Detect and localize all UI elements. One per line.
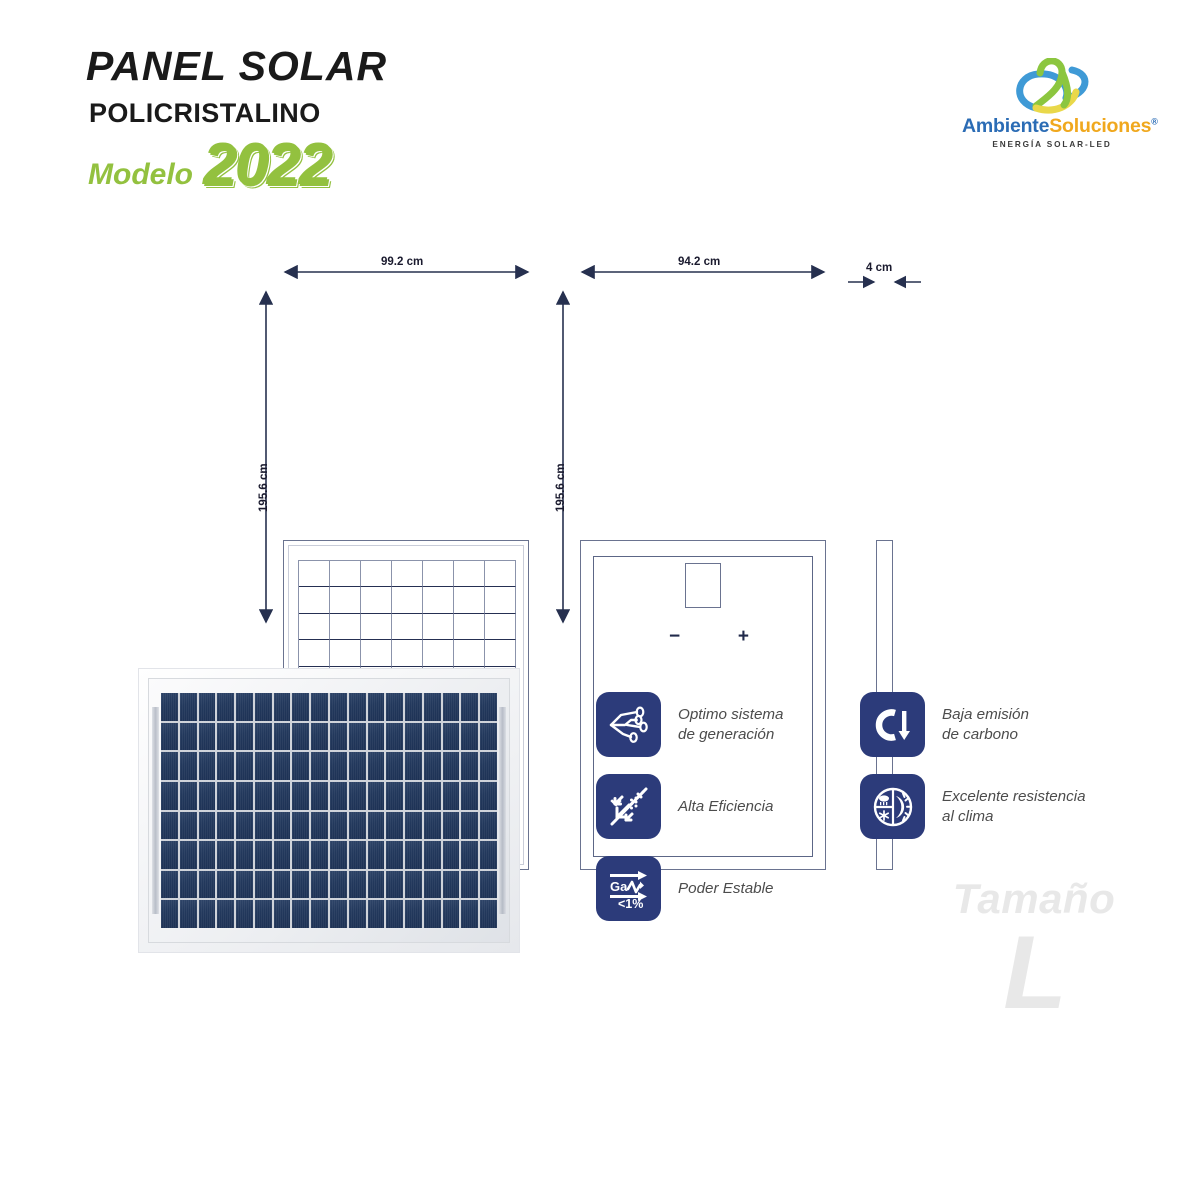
solar-cell bbox=[423, 587, 454, 613]
solar-cell bbox=[299, 561, 330, 587]
photo-solar-cell bbox=[274, 841, 291, 869]
photo-solar-cell bbox=[330, 693, 347, 721]
photo-solar-cell bbox=[386, 841, 403, 869]
solar-cell bbox=[454, 614, 485, 640]
photo-solar-cell bbox=[255, 693, 272, 721]
photo-solar-cell bbox=[461, 812, 478, 840]
feature-baja-emision: Baja emisión de carbono bbox=[860, 692, 1117, 757]
feature-poder-estable: Ga <1% Poder Estable bbox=[596, 856, 784, 921]
photo-solar-cell bbox=[180, 841, 197, 869]
solar-cell bbox=[361, 640, 392, 666]
photo-solar-cell bbox=[443, 782, 460, 810]
brand-name-primary: Ambiente bbox=[962, 115, 1049, 137]
photo-solar-cell bbox=[480, 693, 497, 721]
photo-solar-cell bbox=[255, 752, 272, 780]
photo-solar-cell bbox=[461, 841, 478, 869]
brand-name-secondary: Soluciones bbox=[1049, 115, 1151, 137]
photo-solar-cell bbox=[368, 723, 385, 751]
photo-solar-cell bbox=[199, 900, 216, 928]
photo-solar-cell bbox=[443, 841, 460, 869]
photo-solar-cell bbox=[480, 871, 497, 899]
photo-solar-cell bbox=[292, 841, 309, 869]
feature-resistencia-clima: Excelente resistencia al clima bbox=[860, 774, 1117, 839]
photo-solar-cell bbox=[161, 752, 178, 780]
photo-solar-cell bbox=[368, 752, 385, 780]
photo-solar-cell bbox=[292, 812, 309, 840]
photo-solar-cell bbox=[443, 693, 460, 721]
solar-cell bbox=[485, 614, 516, 640]
photo-solar-cell bbox=[330, 900, 347, 928]
photo-solar-cell bbox=[349, 693, 366, 721]
weather-resistance-icon bbox=[860, 774, 925, 839]
photo-solar-cell bbox=[217, 871, 234, 899]
photo-solar-cell bbox=[386, 812, 403, 840]
solar-cell bbox=[299, 587, 330, 613]
solar-cell bbox=[485, 587, 516, 613]
photo-solar-cell bbox=[461, 752, 478, 780]
photo-solar-cell bbox=[311, 723, 328, 751]
size-badge-label: Tamaño bbox=[924, 878, 1144, 920]
photo-solar-cell bbox=[405, 723, 422, 751]
page-title-block: PANEL SOLAR POLICRISTALINO Modelo 2022 bbox=[86, 46, 646, 190]
solar-cell bbox=[330, 561, 361, 587]
brand-tagline: ENERGÍA SOLAR-LED bbox=[962, 140, 1142, 149]
photo-solar-cell bbox=[161, 841, 178, 869]
front-height-label: 195.6 cm bbox=[258, 463, 270, 512]
photo-solar-cell bbox=[274, 812, 291, 840]
photo-solar-cell bbox=[368, 782, 385, 810]
photo-solar-cell bbox=[368, 841, 385, 869]
photo-solar-cell bbox=[461, 900, 478, 928]
photo-solar-cell bbox=[217, 723, 234, 751]
photo-solar-cell bbox=[311, 900, 328, 928]
model-row: Modelo 2022 bbox=[88, 139, 646, 190]
photo-solar-cell bbox=[274, 693, 291, 721]
panel-photo-frame bbox=[148, 678, 510, 943]
registered-mark: ® bbox=[1151, 117, 1157, 127]
photo-solar-cell bbox=[368, 871, 385, 899]
size-badge-value: L bbox=[924, 924, 1144, 1023]
model-year: 2022 bbox=[203, 139, 330, 189]
photo-solar-cell bbox=[405, 841, 422, 869]
photo-solar-cell bbox=[274, 871, 291, 899]
photo-solar-cell bbox=[255, 782, 272, 810]
photo-solar-cell bbox=[217, 841, 234, 869]
photo-solar-cell bbox=[217, 900, 234, 928]
photo-solar-cell bbox=[330, 812, 347, 840]
generation-network-icon bbox=[596, 692, 661, 757]
solar-cell bbox=[423, 561, 454, 587]
photo-solar-cell bbox=[386, 693, 403, 721]
photo-solar-cell bbox=[405, 782, 422, 810]
busbar-left bbox=[152, 707, 159, 914]
photo-solar-cell bbox=[199, 752, 216, 780]
back-height-label: 195.6 cm bbox=[555, 463, 567, 512]
photo-solar-cell bbox=[349, 841, 366, 869]
photo-solar-cell bbox=[161, 723, 178, 751]
photo-solar-cell bbox=[199, 782, 216, 810]
photo-solar-cell bbox=[461, 871, 478, 899]
photo-solar-cell bbox=[180, 871, 197, 899]
photo-solar-cell bbox=[311, 812, 328, 840]
feature-column-left: Optimo sistema de generación bbox=[596, 692, 784, 938]
page-title: PANEL SOLAR bbox=[86, 46, 646, 87]
solar-panel-photo bbox=[138, 668, 520, 953]
photo-solar-cell bbox=[180, 723, 197, 751]
solar-cell bbox=[454, 640, 485, 666]
solar-cell bbox=[392, 587, 423, 613]
photo-solar-cell bbox=[161, 812, 178, 840]
solar-cell bbox=[330, 614, 361, 640]
photo-solar-cell bbox=[405, 752, 422, 780]
photo-solar-cell bbox=[330, 841, 347, 869]
photo-solar-cell bbox=[236, 812, 253, 840]
photo-solar-cell bbox=[424, 752, 441, 780]
photo-solar-cell bbox=[217, 693, 234, 721]
solar-cell bbox=[423, 640, 454, 666]
photo-solar-cell bbox=[217, 752, 234, 780]
feature-label: Baja emisión de carbono bbox=[942, 705, 1029, 744]
photo-solar-cell bbox=[349, 752, 366, 780]
photo-solar-cell bbox=[236, 900, 253, 928]
photo-solar-cell bbox=[443, 871, 460, 899]
photo-solar-cell bbox=[255, 812, 272, 840]
photo-solar-cell bbox=[443, 812, 460, 840]
brand-logo: AmbienteSoluciones® ENERGÍA SOLAR-LED bbox=[962, 58, 1142, 149]
photo-solar-cell bbox=[236, 723, 253, 751]
solar-cell bbox=[392, 640, 423, 666]
photo-solar-cell bbox=[368, 693, 385, 721]
solar-cell bbox=[392, 561, 423, 587]
photo-solar-cell bbox=[386, 871, 403, 899]
photo-solar-cell bbox=[480, 841, 497, 869]
photo-solar-cell bbox=[349, 871, 366, 899]
photo-solar-cell bbox=[349, 812, 366, 840]
photo-solar-cell bbox=[386, 723, 403, 751]
photo-solar-cell bbox=[180, 812, 197, 840]
photo-solar-cell bbox=[386, 782, 403, 810]
photo-solar-cell bbox=[217, 812, 234, 840]
feature-alta-eficiencia: Alta Eficiencia bbox=[596, 774, 784, 839]
model-label: Modelo bbox=[88, 160, 193, 190]
photo-solar-cell bbox=[330, 871, 347, 899]
photo-solar-cell bbox=[292, 871, 309, 899]
photo-solar-cell bbox=[480, 752, 497, 780]
solar-cell bbox=[392, 614, 423, 640]
feature-optimo-sistema: Optimo sistema de generación bbox=[596, 692, 784, 757]
photo-solar-cell bbox=[480, 812, 497, 840]
photo-solar-cell bbox=[405, 871, 422, 899]
solar-cell bbox=[330, 587, 361, 613]
solar-cell bbox=[361, 587, 392, 613]
solar-cell bbox=[299, 640, 330, 666]
photo-solar-cell bbox=[292, 723, 309, 751]
photo-solar-cell bbox=[424, 723, 441, 751]
photo-solar-cell bbox=[236, 782, 253, 810]
photo-solar-cell bbox=[330, 782, 347, 810]
solar-cell bbox=[361, 561, 392, 587]
polarity-negative-icon: − bbox=[669, 627, 680, 646]
stable-power-ga-icon: Ga <1% bbox=[596, 856, 661, 921]
photo-solar-cell bbox=[349, 782, 366, 810]
side-thickness-label: 4 cm bbox=[866, 262, 892, 274]
photo-solar-cell bbox=[161, 871, 178, 899]
photo-solar-cell bbox=[180, 693, 197, 721]
photo-solar-cell bbox=[236, 752, 253, 780]
photo-solar-cell bbox=[311, 841, 328, 869]
photo-solar-cell bbox=[199, 812, 216, 840]
photo-solar-cell bbox=[368, 812, 385, 840]
solar-cell bbox=[423, 614, 454, 640]
photo-solar-cell bbox=[199, 841, 216, 869]
polarity-positive-icon: + bbox=[738, 627, 749, 646]
solar-cell bbox=[454, 587, 485, 613]
photo-solar-cell bbox=[405, 900, 422, 928]
photo-solar-cell bbox=[443, 723, 460, 751]
photo-solar-cell bbox=[292, 900, 309, 928]
svg-text:<1%: <1% bbox=[618, 897, 643, 911]
photo-solar-cell bbox=[349, 723, 366, 751]
photo-solar-cell bbox=[424, 782, 441, 810]
photo-solar-cell bbox=[236, 871, 253, 899]
photo-solar-cell bbox=[368, 900, 385, 928]
feature-label: Poder Estable bbox=[678, 879, 773, 898]
photo-solar-cell bbox=[292, 782, 309, 810]
photo-solar-cell bbox=[480, 782, 497, 810]
photo-solar-cell bbox=[461, 693, 478, 721]
photo-solar-cell bbox=[255, 723, 272, 751]
photo-solar-cell bbox=[311, 782, 328, 810]
photo-solar-cell bbox=[386, 900, 403, 928]
photo-solar-cell bbox=[180, 900, 197, 928]
photo-solar-cell bbox=[424, 900, 441, 928]
photo-solar-cell bbox=[386, 752, 403, 780]
technical-drawings: 99.2 cm 195.6 cm 94.2 cm 195.6 cm 4 cm −… bbox=[0, 250, 1200, 650]
photo-solar-cell bbox=[274, 782, 291, 810]
photo-solar-cell bbox=[311, 693, 328, 721]
high-efficiency-arrows-icon bbox=[596, 774, 661, 839]
solar-cell bbox=[454, 561, 485, 587]
solar-cell bbox=[485, 561, 516, 587]
photo-solar-cell bbox=[292, 752, 309, 780]
photo-solar-cell bbox=[274, 752, 291, 780]
photo-solar-cell bbox=[443, 900, 460, 928]
photo-solar-cell bbox=[217, 782, 234, 810]
photo-solar-cell bbox=[405, 812, 422, 840]
solar-cell bbox=[485, 640, 516, 666]
photo-solar-cell bbox=[405, 693, 422, 721]
feature-column-right: Baja emisión de carbono bbox=[860, 692, 1117, 856]
photo-solar-cell bbox=[255, 841, 272, 869]
solar-cell bbox=[361, 614, 392, 640]
photo-solar-cell bbox=[199, 693, 216, 721]
photo-solar-cell bbox=[292, 693, 309, 721]
photo-solar-cell bbox=[480, 900, 497, 928]
photo-solar-cell bbox=[461, 782, 478, 810]
brand-wordmark: AmbienteSoluciones® bbox=[962, 117, 1142, 137]
low-carbon-icon bbox=[860, 692, 925, 757]
photo-solar-cell bbox=[199, 723, 216, 751]
feature-label: Optimo sistema de generación bbox=[678, 705, 784, 744]
photo-solar-cell bbox=[161, 900, 178, 928]
photo-solar-cell bbox=[180, 782, 197, 810]
photo-solar-cell bbox=[461, 723, 478, 751]
trefoil-loop-icon bbox=[1006, 58, 1098, 116]
photo-solar-cell bbox=[161, 693, 178, 721]
photo-solar-cell bbox=[424, 841, 441, 869]
photo-solar-cell bbox=[330, 752, 347, 780]
photo-solar-cell bbox=[443, 752, 460, 780]
photo-solar-cell bbox=[311, 752, 328, 780]
photo-solar-cell bbox=[274, 900, 291, 928]
photo-solar-cell bbox=[255, 871, 272, 899]
photo-solar-cell bbox=[424, 871, 441, 899]
busbar-right bbox=[499, 707, 506, 914]
feature-label: Excelente resistencia al clima bbox=[942, 787, 1117, 826]
photo-solar-cell bbox=[255, 900, 272, 928]
polarity-markers: − + bbox=[669, 627, 749, 646]
page-subtitle: POLICRISTALINO bbox=[89, 100, 646, 127]
size-badge: Tamaño L bbox=[924, 878, 1144, 1023]
junction-box-icon bbox=[685, 563, 721, 608]
front-width-label: 99.2 cm bbox=[381, 256, 423, 268]
photo-solar-cell bbox=[330, 723, 347, 751]
photo-solar-cell bbox=[180, 752, 197, 780]
photo-solar-cell bbox=[161, 782, 178, 810]
photo-solar-cell bbox=[274, 723, 291, 751]
back-width-label: 94.2 cm bbox=[678, 256, 720, 268]
photo-solar-cell bbox=[236, 693, 253, 721]
photo-solar-cell bbox=[480, 723, 497, 751]
photo-solar-cell bbox=[199, 871, 216, 899]
feature-label: Alta Eficiencia bbox=[678, 797, 773, 816]
photo-solar-cell bbox=[311, 871, 328, 899]
panel-photo-cell-grid bbox=[161, 693, 497, 928]
svg-text:Ga: Ga bbox=[610, 879, 628, 894]
photo-solar-cell bbox=[349, 900, 366, 928]
photo-solar-cell bbox=[236, 841, 253, 869]
photo-solar-cell bbox=[424, 693, 441, 721]
photo-solar-cell bbox=[424, 812, 441, 840]
solar-cell bbox=[299, 614, 330, 640]
solar-cell bbox=[330, 640, 361, 666]
